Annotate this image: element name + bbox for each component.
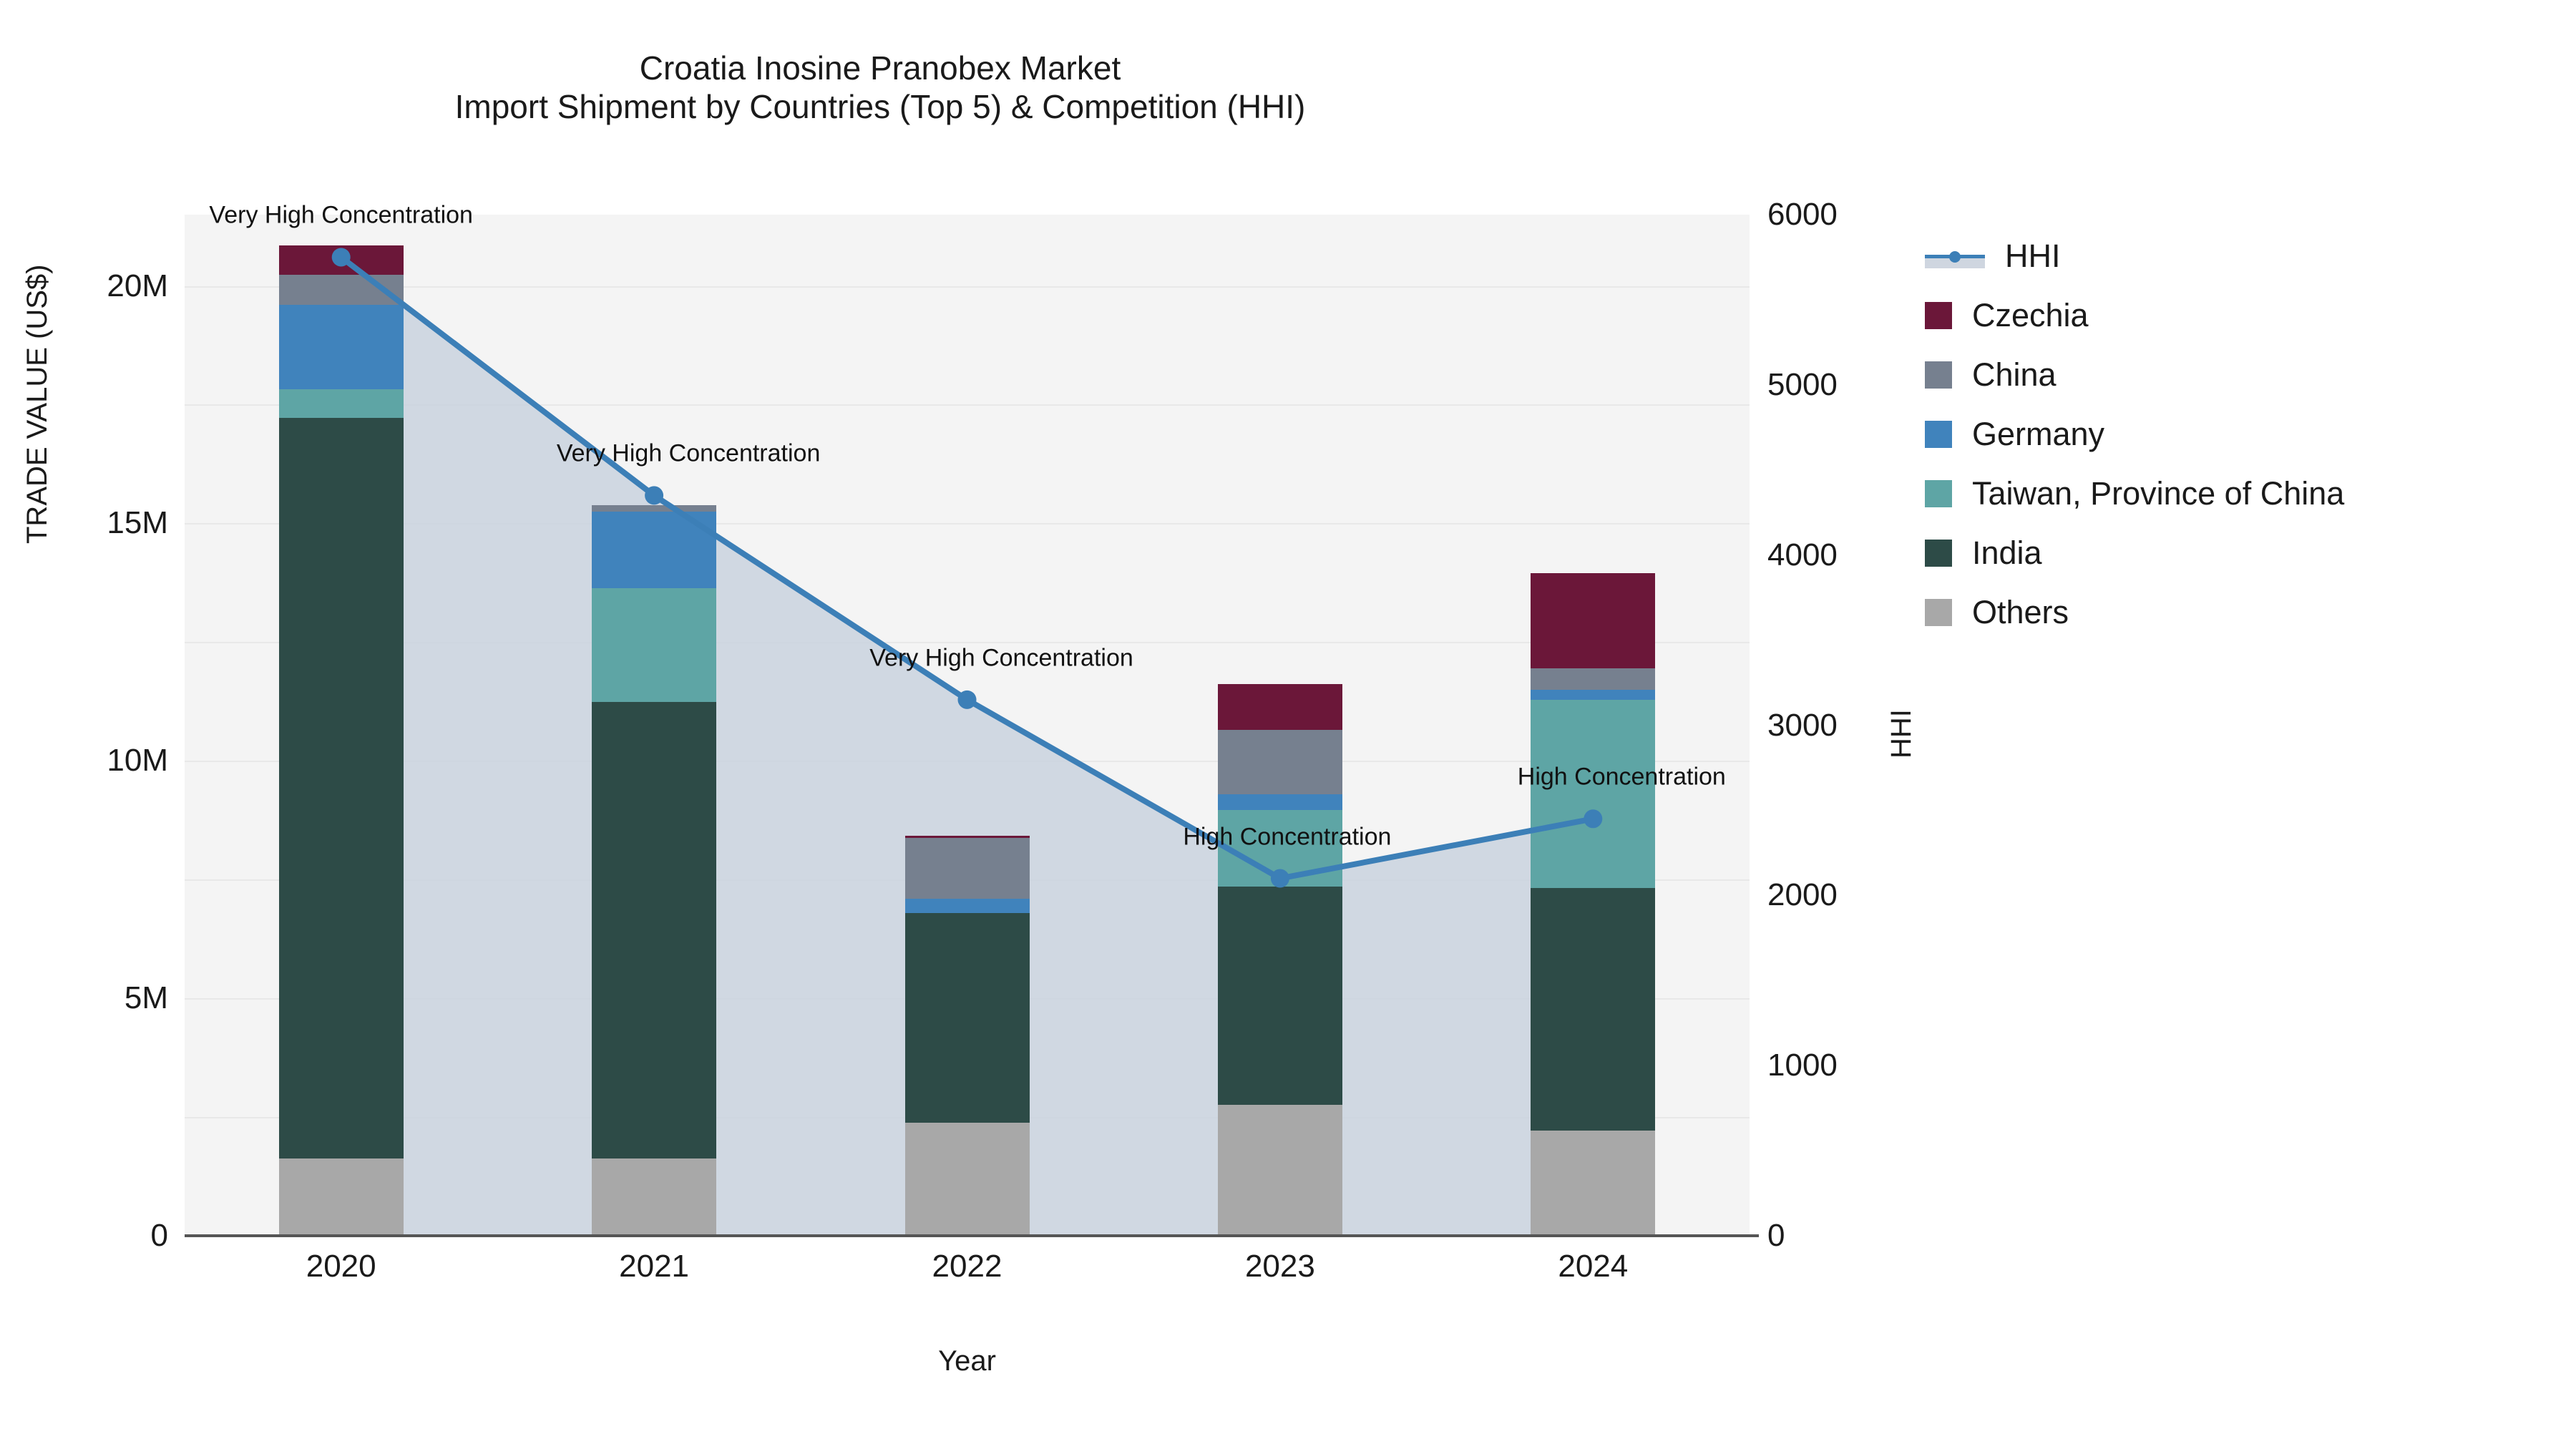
legend-item-czechia[interactable]: Czechia	[1925, 286, 2555, 345]
x-tick: 2024	[1558, 1249, 1628, 1284]
legend-swatch-icon	[1925, 540, 1952, 567]
y-tick-right: 1000	[1767, 1048, 1838, 1083]
legend-label: China	[1972, 356, 2057, 394]
legend-swatch-icon	[1925, 302, 1952, 329]
chart-title: Croatia Inosine Pranobex Market Import S…	[0, 49, 1760, 127]
y-tick-left: 20M	[107, 268, 168, 304]
legend: HHICzechiaChinaGermanyTaiwan, Province o…	[1925, 226, 2555, 642]
legend-swatch-icon	[1925, 421, 1952, 448]
hhi-polyline	[341, 257, 1594, 878]
legend-swatch-icon	[1925, 599, 1952, 626]
y-tick-right: 6000	[1767, 197, 1838, 233]
y-tick-right: 0	[1767, 1218, 1785, 1254]
x-tick: 2022	[932, 1249, 1002, 1284]
chart-title-line1: Croatia Inosine Pranobex Market	[0, 49, 1760, 87]
legend-item-india[interactable]: India	[1925, 523, 2555, 582]
concentration-annotation: High Concentration	[1518, 763, 1726, 791]
y-tick-left: 15M	[107, 505, 168, 541]
legend-label: Germany	[1972, 416, 2104, 453]
plot-area: Very High ConcentrationVery High Concent…	[185, 215, 1750, 1236]
y-tick-right: 4000	[1767, 537, 1838, 573]
legend-label: HHI	[2005, 238, 2061, 275]
x-axis-label: Year	[185, 1345, 1750, 1377]
y-tick-left: 5M	[125, 980, 168, 1016]
legend-item-china[interactable]: China	[1925, 345, 2555, 404]
concentration-annotation: Very High Concentration	[209, 202, 473, 230]
hhi-marker[interactable]	[645, 486, 663, 504]
hhi-marker[interactable]	[332, 248, 351, 266]
x-tick: 2020	[306, 1249, 376, 1284]
x-tick: 2021	[619, 1249, 689, 1284]
y-tick-right: 3000	[1767, 708, 1838, 743]
legend-swatch-icon	[1925, 361, 1952, 389]
legend-item-hhi[interactable]: HHI	[1925, 226, 2555, 286]
legend-item-others[interactable]: Others	[1925, 582, 2555, 642]
hhi-marker[interactable]	[1584, 809, 1602, 828]
legend-line-marker-icon	[1925, 243, 1985, 270]
chart-root: Croatia Inosine Pranobex Market Import S…	[0, 0, 2576, 1449]
concentration-annotation: Very High Concentration	[869, 644, 1133, 672]
legend-label: Taiwan, Province of China	[1972, 475, 2344, 512]
y-tick-right: 2000	[1767, 877, 1838, 913]
legend-swatch-icon	[1925, 480, 1952, 507]
legend-item-germany[interactable]: Germany	[1925, 404, 2555, 464]
concentration-annotation: High Concentration	[1183, 823, 1391, 851]
legend-label: Czechia	[1972, 297, 2089, 334]
hhi-marker[interactable]	[958, 691, 977, 709]
legend-item-taiwan-province-of-china[interactable]: Taiwan, Province of China	[1925, 464, 2555, 523]
legend-label: Others	[1972, 594, 2069, 631]
legend-label: India	[1972, 535, 2042, 572]
x-axis-line	[185, 1234, 1759, 1237]
chart-title-line2: Import Shipment by Countries (Top 5) & C…	[0, 87, 1760, 126]
y-tick-left: 0	[151, 1218, 168, 1254]
hhi-line	[185, 215, 1750, 1236]
y-axis-right-label: HHI	[1885, 709, 1918, 758]
y-tick-left: 10M	[107, 743, 168, 779]
x-tick: 2023	[1245, 1249, 1315, 1284]
y-tick-right: 5000	[1767, 367, 1838, 403]
y-axis-left-label: TRADE VALUE (US$)	[21, 501, 54, 544]
hhi-marker[interactable]	[1271, 869, 1289, 888]
concentration-annotation: Very High Concentration	[557, 440, 821, 468]
